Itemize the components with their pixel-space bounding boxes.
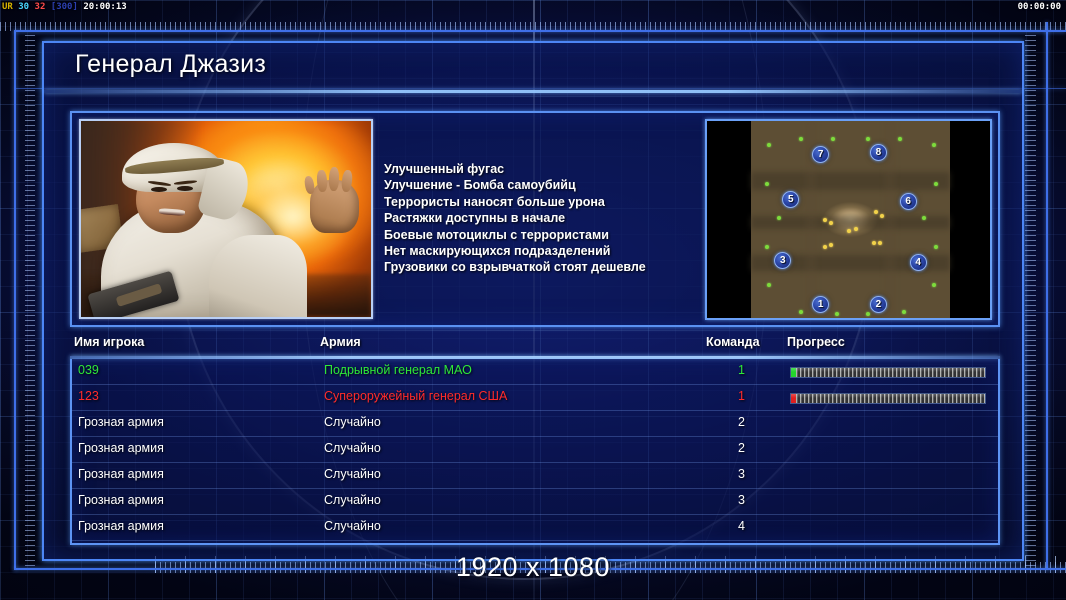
portrait-finger (316, 170, 327, 192)
cell-team: 3 (738, 467, 745, 481)
map-resource-marker (765, 245, 769, 249)
map-resource-marker (866, 137, 870, 141)
cell-team: 2 (738, 415, 745, 429)
map-resource-marker (767, 143, 771, 147)
map-resource-marker (932, 143, 936, 147)
cell-player-name: Грозная армия (78, 415, 164, 429)
player-list: Имя игрока Армия Команда Прогресс 039Под… (70, 335, 1000, 545)
map-resource-marker (765, 182, 769, 186)
progress-bar-gloss (791, 368, 985, 372)
window-title-bar: Генерал Джазиз (44, 43, 1022, 91)
player-list-body: 039Подрывной генерал МАО1123Супероружейн… (70, 359, 1000, 545)
osd-token: 20:00:13 (83, 2, 126, 12)
column-header-team: Команда (706, 335, 760, 349)
map-start-position-8[interactable]: 8 (870, 144, 887, 161)
cell-team: 1 (738, 363, 745, 377)
map-resource-marker (874, 210, 878, 214)
cell-team: 1 (738, 389, 745, 403)
cell-player-name: Грозная армия (78, 441, 164, 455)
map-preview[interactable]: 78563412 (705, 119, 992, 320)
cell-army: Случайно (324, 467, 381, 481)
map-terrain: 78563412 (751, 121, 950, 318)
osd-timer-right: 00:00:00 (1018, 2, 1061, 12)
cell-team: 4 (738, 519, 745, 533)
portrait-shoulder (209, 235, 308, 319)
progress-bar (790, 393, 986, 404)
map-start-position-1[interactable]: 1 (812, 296, 829, 313)
general-portrait (79, 119, 373, 319)
cell-progress (790, 367, 986, 378)
cell-player-name: 039 (78, 363, 99, 377)
map-resource-marker (872, 241, 876, 245)
map-resource-marker (829, 243, 833, 247)
portrait-eye-right (177, 186, 193, 191)
map-resource-marker (878, 241, 882, 245)
column-header-progress: Прогресс (787, 335, 845, 349)
map-resource-marker (932, 283, 936, 287)
map-resource-marker (880, 214, 884, 218)
map-resource-marker (799, 310, 803, 314)
general-bonus-line: Улучшенный фугас (384, 161, 696, 177)
cell-player-name: Грозная армия (78, 467, 164, 481)
cell-army: Подрывной генерал МАО (324, 363, 472, 377)
map-resource-marker (831, 137, 835, 141)
column-header-army: Армия (320, 335, 361, 349)
map-resource-marker (934, 245, 938, 249)
osd-token: [300] (51, 2, 84, 12)
cell-progress (790, 393, 986, 404)
general-bonus-list: Улучшенный фугасУлучшение - Бомба самоуб… (384, 161, 696, 276)
progress-bar-gloss (791, 394, 985, 398)
table-row[interactable]: Грозная армияСлучайно3 (72, 463, 998, 489)
map-resource-marker (835, 312, 839, 316)
table-row[interactable]: Грозная армияСлучайно2 (72, 437, 998, 463)
osd-token: UR (2, 2, 18, 12)
general-bonus-line: Террористы наносят больше урона (384, 194, 696, 210)
resolution-overlay: 1920 x 1080 (0, 552, 1066, 583)
osd-stats-left: UR 30 32 [300] 20:00:13 (2, 2, 127, 12)
map-resource-marker (866, 312, 870, 316)
general-bonus-line: Нет маскирующихся подразделений (384, 243, 696, 259)
map-resource-marker (854, 227, 858, 231)
page-title: Генерал Джазиз (75, 50, 266, 79)
title-separator (44, 90, 1022, 93)
table-row[interactable]: 039Подрывной генерал МАО1 (72, 359, 998, 385)
map-start-position-7[interactable]: 7 (812, 146, 829, 163)
map-resource-marker (799, 137, 803, 141)
general-info-panel: Улучшенный фугасУлучшение - Бомба самоуб… (70, 111, 1000, 327)
osd-token: 30 (18, 2, 34, 12)
general-bonus-line: Растяжки доступны в начале (384, 210, 696, 226)
cell-player-name: Грозная армия (78, 493, 164, 507)
map-start-position-2[interactable]: 2 (870, 296, 887, 313)
map-resource-marker (902, 310, 906, 314)
table-row[interactable]: 123Супероружейный генерал США1 (72, 385, 998, 411)
map-resource-marker (898, 137, 902, 141)
map-start-position-4[interactable]: 4 (910, 254, 927, 271)
map-start-position-6[interactable]: 6 (900, 193, 917, 210)
general-bonus-line: Улучшение - Бомба самоубийц (384, 177, 696, 193)
general-select-window: Генерал Джазиз (42, 41, 1024, 561)
map-resource-marker (767, 283, 771, 287)
progress-bar (790, 367, 986, 378)
osd-token: 32 (35, 2, 51, 12)
cell-army: Случайно (324, 415, 381, 429)
table-row[interactable]: Грозная армияСлучайно4 (72, 541, 998, 545)
cell-team: 2 (738, 441, 745, 455)
table-row[interactable]: Грозная армияСлучайно2 (72, 411, 998, 437)
general-bonus-line: Грузовики со взрывчаткой стоят дешевле (384, 259, 696, 275)
map-resource-marker (823, 218, 827, 222)
table-row[interactable]: Грозная армияСлучайно3 (72, 489, 998, 515)
column-header-player-name: Имя игрока (74, 335, 144, 349)
map-resource-marker (922, 216, 926, 220)
general-bonus-line: Боевые мотоциклы с террористами (384, 227, 696, 243)
player-list-header: Имя игрока Армия Команда Прогресс (70, 335, 1000, 356)
map-start-position-5[interactable]: 5 (782, 191, 799, 208)
portrait-eye-left (151, 187, 167, 192)
cell-army: Случайно (324, 519, 381, 533)
map-resource-marker (847, 229, 851, 233)
table-row[interactable]: Грозная армияСлучайно4 (72, 515, 998, 541)
cell-team: 3 (738, 493, 745, 507)
cell-player-name: 123 (78, 389, 99, 403)
cell-army: Супероружейный генерал США (324, 389, 507, 403)
cell-army: Случайно (324, 441, 381, 455)
cell-army: Случайно (324, 493, 381, 507)
map-resource-marker (823, 245, 827, 249)
map-resource-marker (777, 216, 781, 220)
map-terrain-band (751, 172, 950, 190)
cell-player-name: Грозная армия (78, 519, 164, 533)
